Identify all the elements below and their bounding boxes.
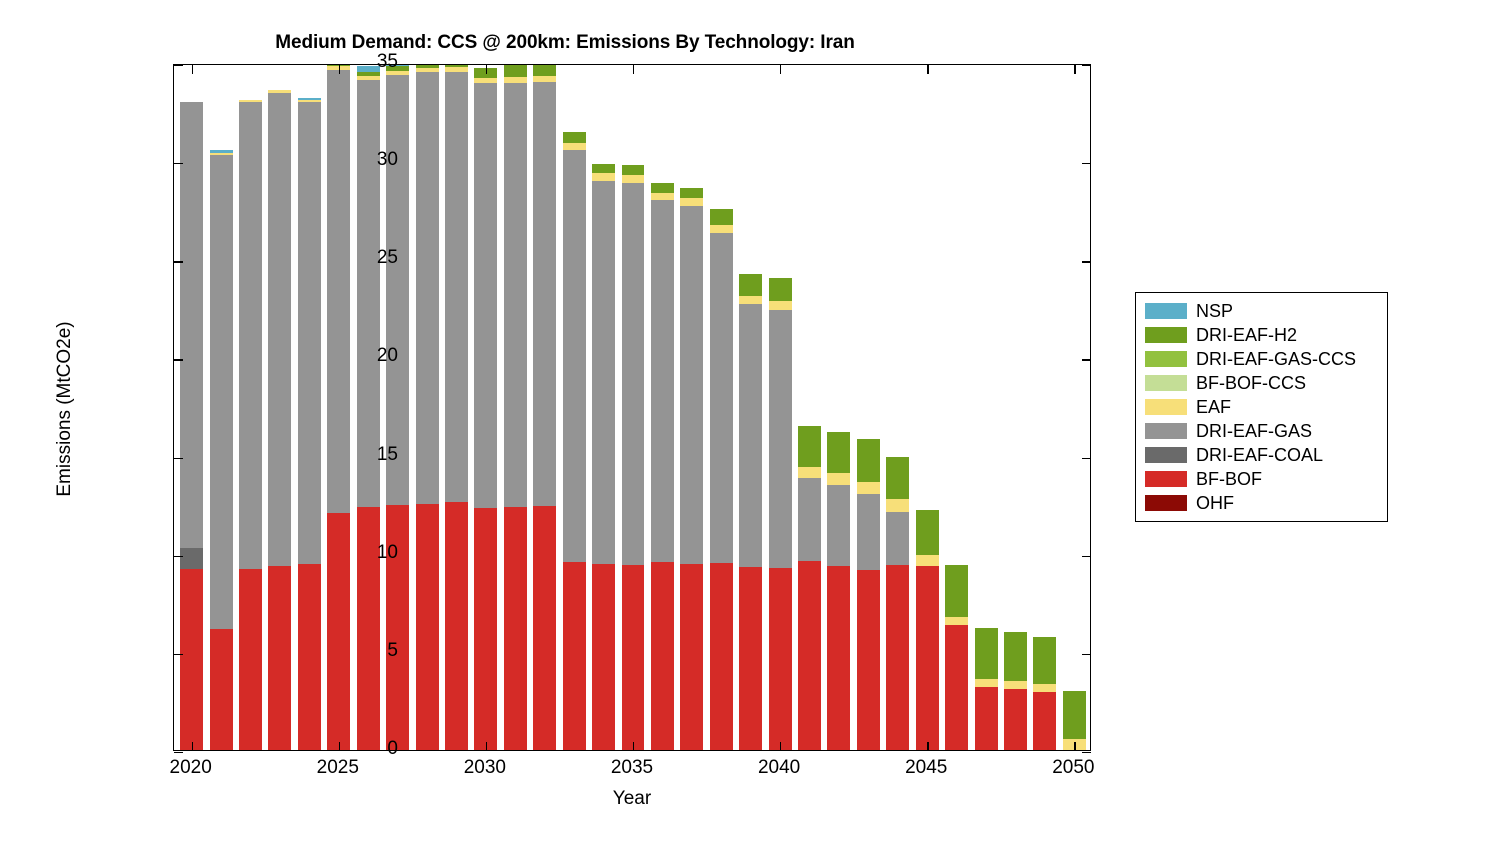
bar-segment-dri-eaf-gas bbox=[298, 102, 321, 563]
x-tick-label: 2045 bbox=[881, 757, 971, 779]
y-tick bbox=[174, 654, 183, 655]
x-tick bbox=[927, 742, 928, 751]
bar-segment-dri-eaf-gas bbox=[386, 75, 409, 505]
bar-segment-bf-bof bbox=[886, 565, 909, 750]
legend-label: BF-BOF-CCS bbox=[1196, 373, 1306, 394]
y-tick-right bbox=[1082, 654, 1091, 655]
bar-segment-dri-eaf-gas bbox=[563, 150, 586, 561]
bar-2046[interactable] bbox=[945, 65, 968, 750]
bar-segment-bf-bof bbox=[268, 566, 291, 750]
bar-2050[interactable] bbox=[1063, 65, 1086, 750]
bar-segment-bf-bof bbox=[622, 565, 645, 750]
bar-segment-dri-eaf-h2 bbox=[857, 439, 880, 482]
legend-label: OHF bbox=[1196, 493, 1234, 514]
bar-segment-eaf bbox=[563, 143, 586, 151]
x-tick bbox=[1074, 742, 1075, 751]
legend-item-dri-eaf-gas[interactable]: DRI-EAF-GAS bbox=[1136, 419, 1387, 443]
page-title: Medium Demand: CCS @ 200km: Emissions By… bbox=[0, 32, 1130, 54]
bar-2020[interactable] bbox=[180, 65, 203, 750]
bar-segment-dri-eaf-h2 bbox=[563, 132, 586, 143]
bar-segment-dri-eaf-h2 bbox=[416, 65, 439, 68]
bar-segment-dri-eaf-gas bbox=[710, 233, 733, 563]
x-tick bbox=[633, 742, 634, 751]
bar-segment-eaf bbox=[357, 76, 380, 80]
bar-segment-dri-eaf-gas bbox=[474, 83, 497, 508]
bar-segment-eaf bbox=[268, 90, 291, 93]
bar-segment-bf-bof bbox=[975, 687, 998, 750]
bar-segment-dri-eaf-gas bbox=[239, 102, 262, 569]
bar-segment-bf-bof bbox=[1004, 689, 1027, 750]
legend-swatch-icon bbox=[1145, 471, 1187, 487]
bar-2032[interactable] bbox=[533, 65, 556, 750]
legend: NSPDRI-EAF-H2DRI-EAF-GAS-CCSBF-BOF-CCSEA… bbox=[1135, 292, 1388, 522]
bar-segment-dri-eaf-gas bbox=[739, 304, 762, 567]
bar-segment-eaf bbox=[1004, 681, 1027, 689]
y-tick bbox=[174, 65, 183, 66]
bar-segment-dri-eaf-h2 bbox=[798, 426, 821, 467]
legend-item-dri-eaf-h2[interactable]: DRI-EAF-H2 bbox=[1136, 323, 1387, 347]
legend-label: NSP bbox=[1196, 301, 1233, 322]
x-tick-label: 2035 bbox=[587, 757, 677, 779]
bar-segment-bf-bof bbox=[739, 567, 762, 750]
bar-segment-eaf bbox=[210, 153, 233, 155]
bar-segment-bf-bof bbox=[857, 570, 880, 750]
y-tick bbox=[174, 752, 183, 753]
bar-segment-nsp bbox=[298, 98, 321, 100]
bar-segment-bf-bof bbox=[827, 566, 850, 750]
bar-segment-eaf bbox=[710, 225, 733, 233]
bar-segment-eaf bbox=[474, 78, 497, 82]
legend-item-dri-eaf-coal[interactable]: DRI-EAF-COAL bbox=[1136, 443, 1387, 467]
bar-segment-dri-eaf-coal bbox=[180, 548, 203, 570]
y-tick-label: 30 bbox=[318, 149, 398, 171]
legend-swatch-icon bbox=[1145, 399, 1187, 415]
bar-segment-dri-eaf-gas bbox=[504, 83, 527, 507]
bar-segment-eaf bbox=[592, 173, 615, 181]
bar-2047[interactable] bbox=[975, 65, 998, 750]
x-tick bbox=[780, 742, 781, 751]
bar-segment-dri-eaf-gas bbox=[533, 82, 556, 506]
bar-2021[interactable] bbox=[210, 65, 233, 750]
y-tick-right bbox=[1082, 163, 1091, 164]
bar-segment-dri-eaf-h2 bbox=[622, 165, 645, 175]
legend-item-eaf[interactable]: EAF bbox=[1136, 395, 1387, 419]
y-tick-label: 25 bbox=[318, 247, 398, 269]
bar-2022[interactable] bbox=[239, 65, 262, 750]
bar-segment-eaf bbox=[1033, 684, 1056, 692]
bar-segment-eaf bbox=[886, 499, 909, 511]
bar-segment-dri-eaf-h2 bbox=[651, 183, 674, 193]
y-tick-label: 20 bbox=[318, 345, 398, 367]
bar-segment-bf-bof bbox=[798, 561, 821, 750]
y-tick-label: 5 bbox=[318, 640, 398, 662]
y-tick-right bbox=[1082, 458, 1091, 459]
bar-segment-dri-eaf-gas bbox=[651, 200, 674, 561]
bar-segment-bf-bof bbox=[680, 564, 703, 750]
bar-segment-dri-eaf-h2 bbox=[945, 565, 968, 617]
legend-swatch-icon bbox=[1145, 327, 1187, 343]
y-tick-right bbox=[1082, 556, 1091, 557]
legend-item-nsp[interactable]: NSP bbox=[1136, 299, 1387, 323]
bar-segment-eaf bbox=[651, 193, 674, 201]
bar-2031[interactable] bbox=[504, 65, 527, 750]
bar-2036[interactable] bbox=[651, 65, 674, 750]
legend-item-bf-bof-ccs[interactable]: BF-BOF-CCS bbox=[1136, 371, 1387, 395]
bar-segment-dri-eaf-h2 bbox=[680, 188, 703, 198]
y-axis-title: Emissions (MtCO2e) bbox=[54, 194, 76, 624]
bar-segment-bf-bof bbox=[592, 564, 615, 750]
legend-swatch-icon bbox=[1145, 447, 1187, 463]
x-tick-top bbox=[780, 65, 781, 74]
y-tick bbox=[174, 556, 183, 557]
bar-segment-dri-eaf-gas bbox=[357, 80, 380, 507]
bar-segment-dri-eaf-h2 bbox=[975, 628, 998, 679]
bar-segment-eaf bbox=[739, 296, 762, 305]
legend-item-bf-bof[interactable]: BF-BOF bbox=[1136, 467, 1387, 491]
bar-2028[interactable] bbox=[416, 65, 439, 750]
bar-segment-bf-bof bbox=[445, 502, 468, 750]
bar-segment-eaf bbox=[298, 100, 321, 102]
bar-segment-eaf bbox=[857, 482, 880, 494]
x-tick-top bbox=[633, 65, 634, 74]
bar-segment-bf-bof bbox=[769, 568, 792, 750]
legend-label: DRI-EAF-GAS bbox=[1196, 421, 1312, 442]
bar-segment-bf-bof bbox=[710, 563, 733, 750]
bar-segment-bf-bof bbox=[563, 562, 586, 750]
plot-area bbox=[173, 64, 1091, 751]
bar-segment-bf-bof bbox=[210, 629, 233, 750]
bar-2033[interactable] bbox=[563, 65, 586, 750]
bar-segment-bf-bof bbox=[416, 504, 439, 750]
legend-item-ohf[interactable]: OHF bbox=[1136, 491, 1387, 515]
bar-segment-bf-bof bbox=[1033, 692, 1056, 750]
legend-swatch-icon bbox=[1145, 375, 1187, 391]
bar-segment-dri-eaf-h2 bbox=[886, 457, 909, 499]
bar-2023[interactable] bbox=[268, 65, 291, 750]
bar-segment-dri-eaf-gas bbox=[592, 181, 615, 564]
x-tick-top bbox=[1074, 65, 1075, 74]
legend-swatch-icon bbox=[1145, 303, 1187, 319]
y-tick bbox=[174, 261, 183, 262]
x-tick-label: 2025 bbox=[293, 757, 383, 779]
bar-segment-dri-eaf-h2 bbox=[827, 432, 850, 473]
bar-2042[interactable] bbox=[827, 65, 850, 750]
bar-2048[interactable] bbox=[1004, 65, 1027, 750]
bar-segment-dri-eaf-gas bbox=[798, 478, 821, 560]
bar-2043[interactable] bbox=[857, 65, 880, 750]
bar-segment-dri-eaf-gas bbox=[416, 72, 439, 504]
bar-segment-dri-eaf-h2 bbox=[916, 510, 939, 555]
bar-segment-dri-eaf-h2 bbox=[533, 65, 556, 76]
bar-segment-dri-eaf-h2 bbox=[1004, 632, 1027, 681]
bar-segment-dri-eaf-h2 bbox=[739, 274, 762, 296]
bar-segment-eaf bbox=[622, 175, 645, 183]
legend-item-dri-eaf-gas-ccs[interactable]: DRI-EAF-GAS-CCS bbox=[1136, 347, 1387, 371]
bar-2030[interactable] bbox=[474, 65, 497, 750]
bar-segment-eaf bbox=[445, 67, 468, 72]
bar-segment-dri-eaf-h2 bbox=[592, 164, 615, 173]
legend-label: EAF bbox=[1196, 397, 1231, 418]
bar-segment-dri-eaf-gas bbox=[445, 72, 468, 502]
y-tick-label: 10 bbox=[318, 542, 398, 564]
bar-segment-dri-eaf-h2 bbox=[504, 65, 527, 77]
bars-container bbox=[174, 65, 1090, 750]
bar-segment-dri-eaf-h2 bbox=[710, 209, 733, 225]
legend-label: DRI-EAF-COAL bbox=[1196, 445, 1323, 466]
bar-2044[interactable] bbox=[886, 65, 909, 750]
bar-segment-bf-bof bbox=[651, 562, 674, 750]
bar-segment-bf-bof bbox=[916, 566, 939, 751]
bar-segment-dri-eaf-gas bbox=[857, 494, 880, 571]
bar-segment-dri-eaf-h2 bbox=[769, 278, 792, 301]
bar-segment-eaf bbox=[504, 77, 527, 83]
legend-swatch-icon bbox=[1145, 351, 1187, 367]
bar-2039[interactable] bbox=[739, 65, 762, 750]
legend-label: DRI-EAF-H2 bbox=[1196, 325, 1297, 346]
bar-2029[interactable] bbox=[445, 65, 468, 750]
bar-2041[interactable] bbox=[798, 65, 821, 750]
y-tick-right bbox=[1082, 752, 1091, 753]
x-tick bbox=[486, 742, 487, 751]
bar-2035[interactable] bbox=[622, 65, 645, 750]
bar-segment-bf-bof bbox=[180, 569, 203, 750]
bar-segment-eaf bbox=[239, 100, 262, 102]
bar-segment-dri-eaf-gas bbox=[827, 485, 850, 566]
bar-segment-eaf bbox=[798, 467, 821, 478]
bar-segment-dri-eaf-h2 bbox=[1063, 691, 1086, 739]
bar-segment-nsp bbox=[210, 150, 233, 153]
y-tick bbox=[174, 458, 183, 459]
bar-2038[interactable] bbox=[710, 65, 733, 750]
y-tick-label: 35 bbox=[318, 51, 398, 73]
bar-2037[interactable] bbox=[680, 65, 703, 750]
bar-segment-eaf bbox=[945, 617, 968, 625]
bar-segment-dri-eaf-gas bbox=[268, 93, 291, 566]
bar-segment-eaf bbox=[416, 68, 439, 72]
bar-2040[interactable] bbox=[769, 65, 792, 750]
x-tick-label: 2040 bbox=[734, 757, 824, 779]
legend-label: DRI-EAF-GAS-CCS bbox=[1196, 349, 1356, 370]
y-tick-right bbox=[1082, 65, 1091, 66]
y-tick-right bbox=[1082, 261, 1091, 262]
bar-segment-eaf bbox=[769, 301, 792, 310]
x-tick-top bbox=[927, 65, 928, 74]
bar-segment-dri-eaf-gas bbox=[180, 102, 203, 548]
bar-segment-bf-bof bbox=[474, 508, 497, 750]
x-tick-top bbox=[192, 65, 193, 74]
bar-2034[interactable] bbox=[592, 65, 615, 750]
legend-swatch-icon bbox=[1145, 423, 1187, 439]
bar-segment-dri-eaf-gas bbox=[210, 155, 233, 629]
legend-swatch-icon bbox=[1145, 495, 1187, 511]
bar-segment-eaf bbox=[916, 555, 939, 566]
y-tick-right bbox=[1082, 359, 1091, 360]
bar-segment-bf-bof bbox=[239, 569, 262, 750]
y-tick bbox=[174, 163, 183, 164]
x-tick-label: 2020 bbox=[146, 757, 236, 779]
bar-segment-dri-eaf-gas bbox=[769, 310, 792, 568]
x-tick bbox=[192, 742, 193, 751]
x-tick-label: 2030 bbox=[440, 757, 530, 779]
bar-segment-eaf bbox=[680, 198, 703, 206]
bar-segment-eaf bbox=[827, 473, 850, 485]
bar-segment-bf-bof bbox=[533, 506, 556, 750]
x-tick-label: 2050 bbox=[1028, 757, 1118, 779]
x-axis-title: Year bbox=[173, 788, 1091, 810]
bar-segment-eaf bbox=[533, 76, 556, 82]
bar-segment-bf-bof bbox=[945, 625, 968, 750]
legend-label: BF-BOF bbox=[1196, 469, 1262, 490]
bar-2045[interactable] bbox=[916, 65, 939, 750]
bar-segment-eaf bbox=[975, 679, 998, 687]
chart-page: Medium Demand: CCS @ 200km: Emissions By… bbox=[0, 0, 1500, 844]
bar-segment-dri-eaf-h2 bbox=[445, 65, 468, 67]
bar-segment-dri-eaf-gas bbox=[680, 206, 703, 563]
x-tick-top bbox=[486, 65, 487, 74]
y-tick-label: 15 bbox=[318, 444, 398, 466]
bar-segment-dri-eaf-h2 bbox=[1033, 637, 1056, 684]
y-tick bbox=[174, 359, 183, 360]
bar-2049[interactable] bbox=[1033, 65, 1056, 750]
bar-segment-dri-eaf-gas bbox=[886, 512, 909, 565]
bar-segment-bf-bof bbox=[504, 507, 527, 750]
bar-segment-dri-eaf-gas bbox=[622, 183, 645, 565]
